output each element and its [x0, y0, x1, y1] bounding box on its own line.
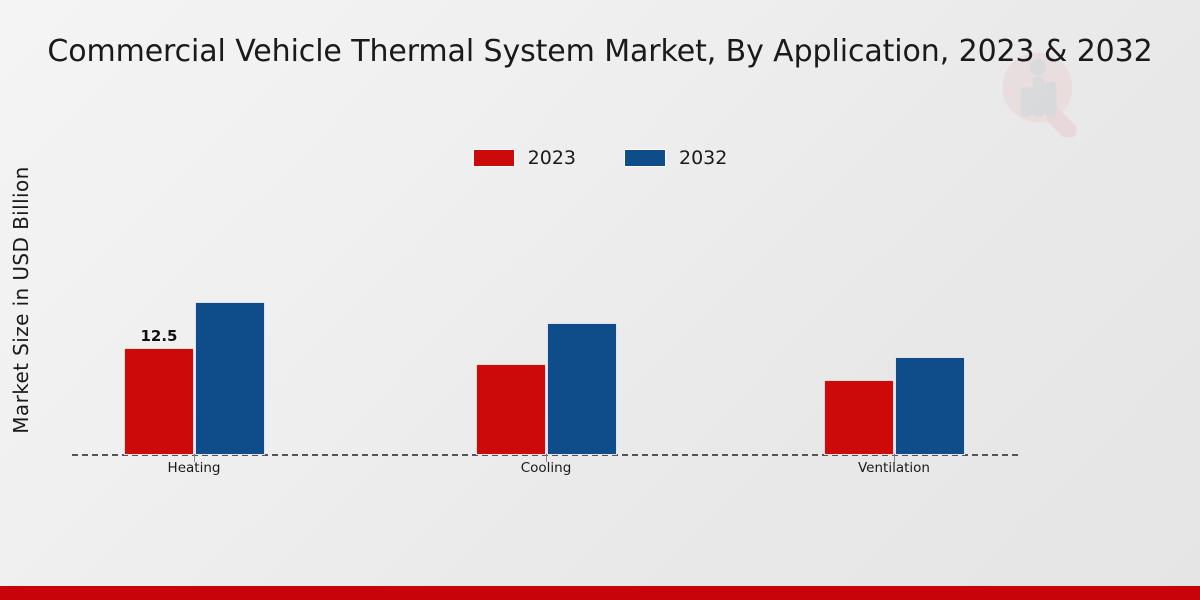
bar-cooling-2032[interactable]	[547, 323, 617, 455]
bar-value-label: 12.5	[114, 327, 204, 345]
x-axis-label-ventilation: Ventilation	[814, 460, 974, 476]
bar-heating-2032[interactable]	[195, 302, 265, 455]
bar-ventilation-2023[interactable]	[824, 380, 894, 455]
bar-cooling-2023[interactable]	[476, 364, 546, 455]
x-axis-label-heating: Heating	[114, 460, 274, 476]
plot-area: 12.5HeatingCoolingVentilation	[0, 0, 1200, 600]
bar-ventilation-2032[interactable]	[895, 357, 965, 455]
x-axis-label-cooling: Cooling	[466, 460, 626, 476]
footer-accent-bar	[0, 586, 1200, 600]
bar-heating-2023[interactable]	[124, 348, 194, 455]
chart-figure: Commercial Vehicle Thermal System Market…	[0, 0, 1200, 600]
